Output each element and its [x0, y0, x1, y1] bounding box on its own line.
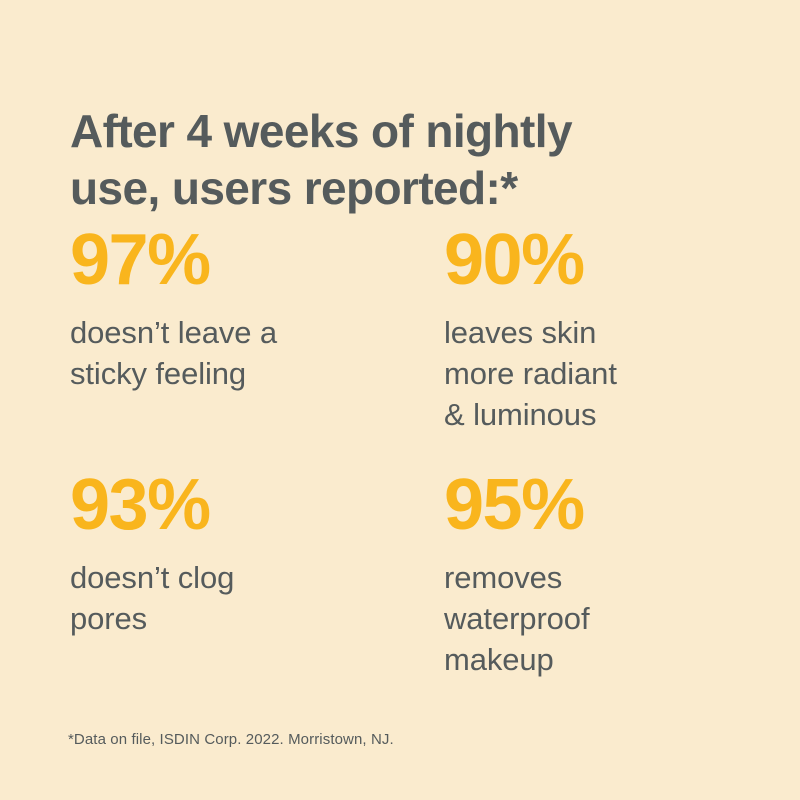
stat-block-90: 90% leaves skin more radiant & luminous: [444, 222, 760, 435]
stat-block-95: 95% removes waterproof makeup: [444, 467, 760, 680]
infographic-poster: After 4 weeks of nightly use, users repo…: [0, 0, 800, 800]
stat-block-93: 93% doesn’t clog pores: [70, 467, 444, 680]
stat-value: 90%: [444, 222, 760, 298]
footnote-disclaimer: *Data on file, ISDIN Corp. 2022. Morrist…: [68, 730, 394, 750]
stat-label: doesn’t clog pores: [70, 557, 444, 639]
stat-block-97: 97% doesn’t leave a sticky feeling: [70, 222, 444, 435]
stats-grid: 97% doesn’t leave a sticky feeling 90% l…: [70, 222, 760, 680]
stat-value: 97%: [70, 222, 444, 298]
page-title: After 4 weeks of nightly use, users repo…: [70, 103, 750, 217]
stat-value: 93%: [70, 467, 444, 543]
stat-label: removes waterproof makeup: [444, 557, 760, 680]
stat-value: 95%: [444, 467, 760, 543]
stat-label: doesn’t leave a sticky feeling: [70, 312, 444, 394]
stat-label: leaves skin more radiant & luminous: [444, 312, 760, 435]
